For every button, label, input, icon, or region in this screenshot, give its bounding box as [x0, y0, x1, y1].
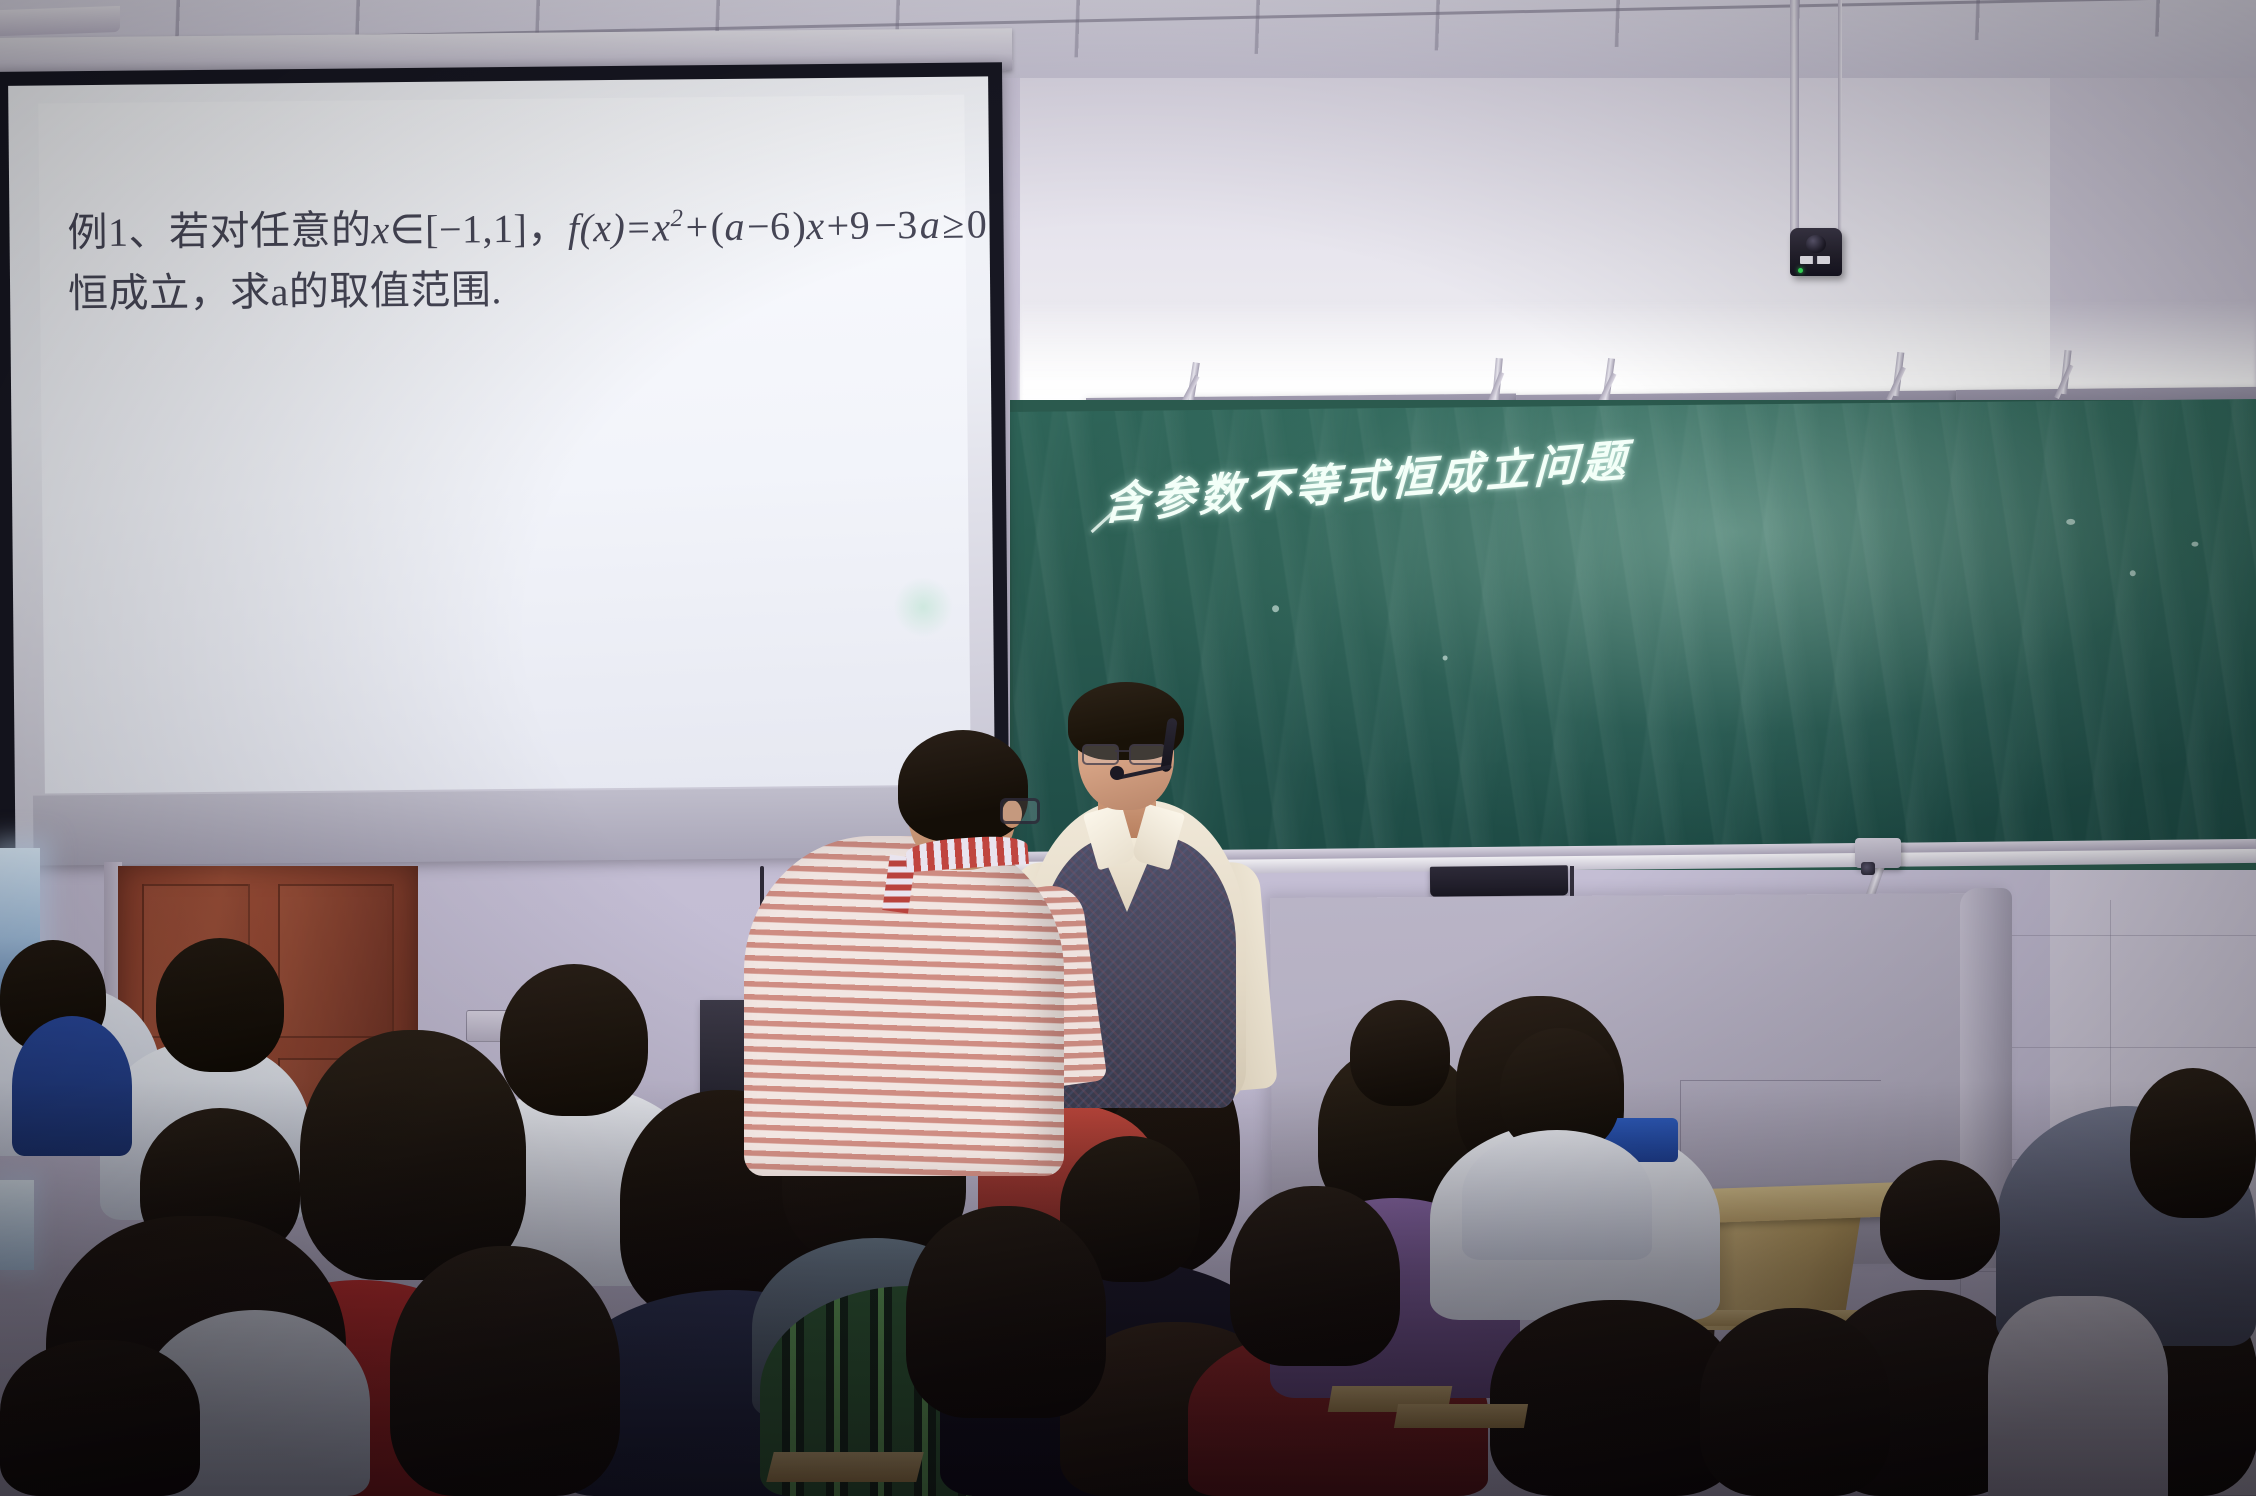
slide-function-name: f — [568, 205, 580, 250]
door-panel — [278, 884, 394, 1038]
slide-line-1: 例1、若对任意的x∈[−1,1]，f(x)=x2+(a−6)x+9−3a≥0 — [67, 195, 948, 264]
wall-camera-icon — [1790, 228, 1842, 276]
slide-paren-open: ( — [710, 204, 724, 249]
student-head — [1700, 1308, 1890, 1496]
slide-zero: 0 — [966, 201, 987, 246]
camera-cable — [1838, 0, 1842, 232]
chalk-mark — [1272, 605, 1279, 612]
student-head — [390, 1246, 620, 1496]
slide-plus-1: + — [683, 204, 710, 249]
monitor-display — [1430, 865, 1568, 896]
glasses-icon — [1082, 744, 1168, 761]
slide-var-a-2: a — [920, 202, 941, 247]
ceiling-vent — [0, 6, 120, 36]
slide-content: 例1、若对任意的x∈[−1,1]，f(x)=x2+(a−6)x+9−3a≥0 恒… — [67, 195, 948, 325]
slide-minus-6: −6 — [745, 203, 793, 248]
slide-prefix: 例1、若对任意的 — [67, 207, 371, 255]
slide-minus-3: −3 — [872, 202, 920, 247]
chalk-mark — [2191, 542, 2198, 547]
camera-status-led — [1798, 268, 1803, 273]
slide-term-x-2: x — [806, 203, 825, 248]
blackboard: 含参数不等式恒成立问题 — [1010, 399, 2256, 867]
wall-conduit-pipe — [1790, 0, 1799, 250]
slide-exponent: 2 — [670, 205, 683, 232]
camera-lens-icon — [1806, 235, 1826, 253]
window-light — [0, 1180, 34, 1270]
chalk-mark — [2066, 519, 2075, 525]
student-head — [500, 964, 648, 1116]
glasses-lens-left — [1082, 744, 1119, 765]
student-head — [1350, 1000, 1450, 1106]
slide-plus-9: +9 — [824, 203, 872, 248]
camera-slot — [1800, 256, 1830, 264]
recording-camera-icon — [1855, 838, 1901, 868]
student-head — [906, 1206, 1106, 1418]
chalk-mark — [2130, 570, 2136, 576]
student-shoulders — [12, 1016, 132, 1156]
slide-term-x: x — [652, 204, 671, 249]
slide-coefficient-a: a — [724, 204, 745, 249]
student-head — [156, 938, 284, 1072]
camera-lens-icon — [1861, 862, 1875, 875]
student-head — [1880, 1160, 2000, 1280]
slide-paren-close: ) — [792, 203, 806, 248]
glasses-icon — [1000, 798, 1040, 824]
chalk-mark — [1443, 655, 1448, 660]
classroom-scene-photo: 含参数不等式恒成立问题 例1、若对任意的x∈[−1,1]，f(x)=x2+(a−… — [0, 0, 2256, 1496]
student-desk — [766, 1452, 923, 1482]
projector-screen[interactable]: 例1、若对任意的x∈[−1,1]，f(x)=x2+(a−6)x+9−3a≥0 恒… — [0, 62, 1010, 862]
slide-line-2: 恒成立，求a的取值范围. — [68, 256, 949, 325]
slide-function-arg: (x) — [579, 205, 625, 250]
microphone-icon — [1110, 766, 1124, 780]
student-head — [0, 1340, 200, 1496]
student-desk — [1394, 1404, 1528, 1428]
slide-variable-x: x — [371, 207, 390, 252]
student-shoulders — [1988, 1296, 2168, 1496]
student-shoulders — [1462, 1130, 1652, 1260]
student-head — [2130, 1068, 2256, 1218]
student-head — [1230, 1186, 1400, 1366]
slide-domain: ∈[−1,1]， — [390, 205, 568, 252]
glasses-lens-right — [1129, 744, 1166, 765]
slide-equals: = — [625, 205, 652, 250]
student-head — [300, 1030, 526, 1280]
screen-surface: 例1、若对任意的x∈[−1,1]，f(x)=x2+(a−6)x+9−3a≥0 恒… — [8, 76, 995, 849]
glasses-bridge — [1115, 750, 1129, 752]
slide-geq: ≥ — [940, 202, 967, 247]
screen-glare-spot — [893, 577, 954, 638]
